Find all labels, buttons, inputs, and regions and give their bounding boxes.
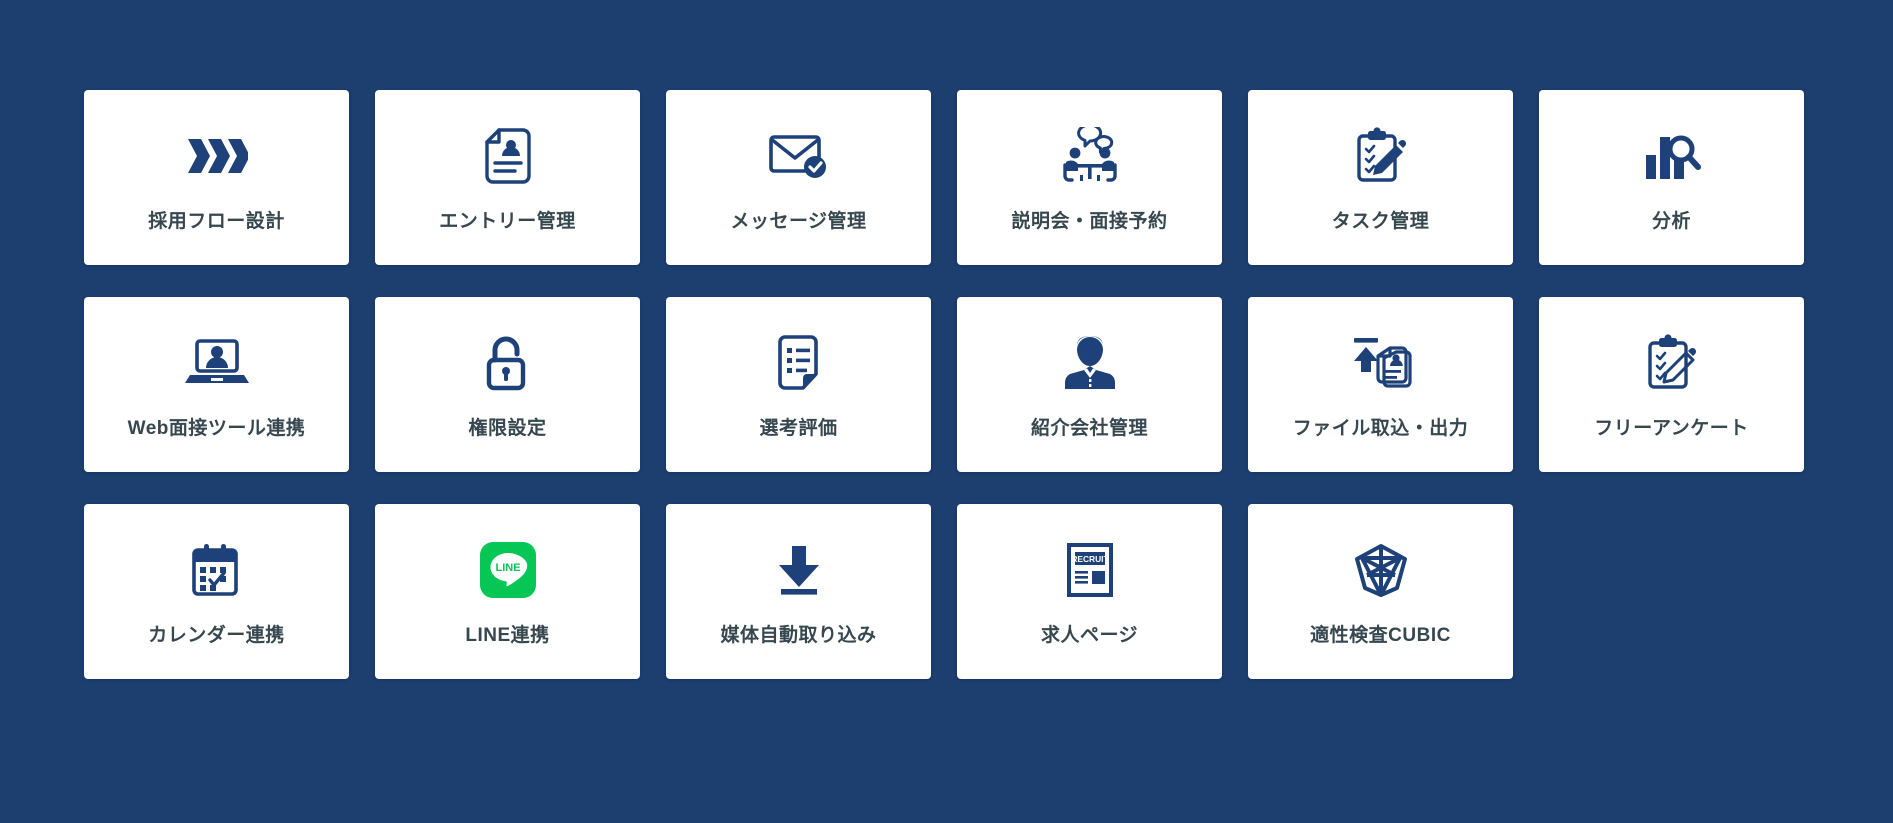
feature-card-file-torikomi-shutsuryoku[interactable]: ファイル取込・出力 [1248,297,1513,472]
feature-card-entry-kanri[interactable]: エントリー管理 [375,90,640,265]
feature-card-bunseki[interactable]: 分析 [1539,90,1804,265]
feature-card-label: 媒体自動取り込み [720,624,876,648]
feature-card-label: LINE連携 [465,624,549,648]
feature-card-label: フリーアンケート [1594,417,1748,441]
businessman-avatar-icon [957,325,1222,401]
feature-card-label: 選考評価 [759,417,837,441]
clipboard-pen-solid-icon [1248,118,1513,194]
feature-card-tekisei-kensa-cubic[interactable]: 適性検査CUBIC [1248,504,1513,679]
bar-chart-magnifier-icon [1539,118,1804,194]
feature-card-label: エントリー管理 [439,210,576,234]
feature-card-label: 求人ページ [1041,624,1138,648]
feature-card-senko-hyoka[interactable]: 選考評価 [666,297,931,472]
feature-card-calendar-renkei[interactable]: カレンダー連携 [84,504,349,679]
file-upload-stack-icon [1248,325,1513,401]
padlock-icon [375,325,640,401]
feature-card-row: 採用フロー設計 [84,90,1811,265]
download-arrow-icon [666,532,931,608]
feature-card-saiyo-flow[interactable]: 採用フロー設計 [84,90,349,265]
clipboard-pen-outline-icon [1539,325,1804,401]
feature-card-label: ファイル取込・出力 [1293,417,1469,441]
feature-card-label: メッセージ管理 [730,210,866,234]
feature-card-label: 適性検査CUBIC [1310,624,1451,648]
laptop-person-icon [84,325,349,401]
feature-card-shokai-gaisha[interactable]: 紹介会社管理 [957,297,1222,472]
feature-card-label: タスク管理 [1332,210,1430,234]
envelope-check-icon [666,118,931,194]
calendar-check-icon [84,532,349,608]
document-list-icon [666,325,931,401]
document-person-icon [375,118,640,194]
svg-text:LINE: LINE [495,562,520,574]
interview-meeting-icon [957,118,1222,194]
feature-card-row: カレンダー連携 LINE LINE連携 [84,504,1811,679]
feature-card-label: 採用フロー設計 [148,210,285,234]
svg-text:RECRUIT: RECRUIT [1071,554,1109,564]
feature-card-label: 紹介会社管理 [1031,417,1148,441]
flow-chevrons-icon [84,118,349,194]
feature-card-label: Web面接ツール連携 [128,417,306,441]
feature-card-kyujin-page[interactable]: RECRUIT 求人ページ [957,504,1222,679]
feature-card-setsumeikai-mensetsu[interactable]: 説明会・面接予約 [957,90,1222,265]
feature-card-row: Web面接ツール連携 権限設定 [84,297,1811,472]
feature-card-task-kanri[interactable]: タスク管理 [1248,90,1513,265]
feature-card-label: 分析 [1652,210,1691,234]
feature-card-message-kanri[interactable]: メッセージ管理 [666,90,931,265]
feature-card-baitai-jido-torikomi[interactable]: 媒体自動取り込み [666,504,931,679]
feature-card-label: カレンダー連携 [148,624,285,648]
feature-card-label: 説明会・面接予約 [1011,210,1167,234]
feature-grid-page: 採用フロー設計 [0,0,1893,823]
feature-card-grid: 採用フロー設計 [84,90,1811,711]
feature-card-label: 権限設定 [468,417,546,441]
cubic-gem-icon [1248,532,1513,608]
recruit-page-icon: RECRUIT [957,532,1222,608]
feature-card-free-enquete[interactable]: フリーアンケート [1539,297,1804,472]
feature-card-web-mensetsu-tool[interactable]: Web面接ツール連携 [84,297,349,472]
feature-card-kengen-settei[interactable]: 権限設定 [375,297,640,472]
line-logo-icon: LINE [375,532,640,608]
feature-card-line-renkei[interactable]: LINE LINE連携 [375,504,640,679]
